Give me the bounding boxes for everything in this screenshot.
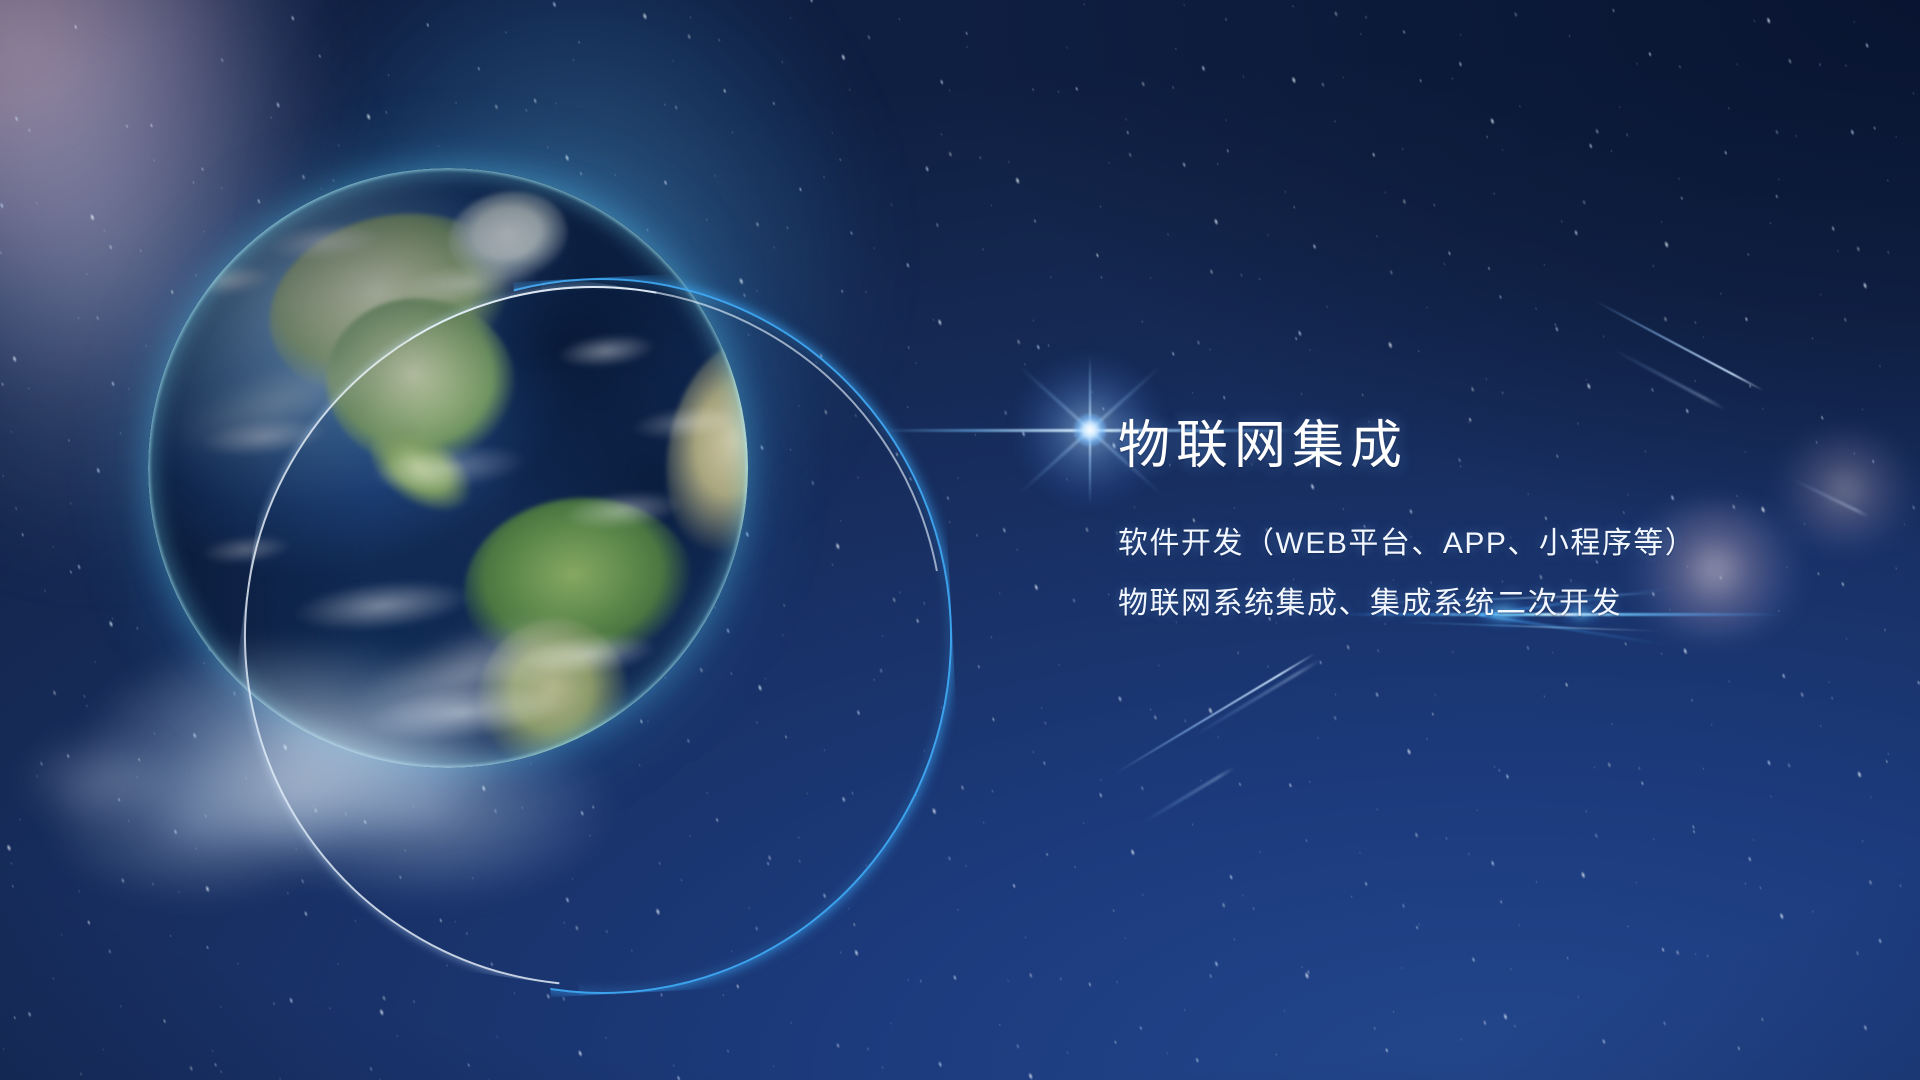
subtitle-line-2: 物联网系统集成、集成系统二次开发 <box>1118 589 1878 619</box>
globe-mist-reflection-3 <box>0 720 200 840</box>
page-title: 物联网集成 <box>1118 418 1878 475</box>
hero-banner: 物联网集成 软件开发（WEB平台、APP、小程序等） 物联网系统集成、集成系统二… <box>0 0 1920 1080</box>
banner-copy: 物联网集成 软件开发（WEB平台、APP、小程序等） 物联网系统集成、集成系统二… <box>1118 418 1878 619</box>
subtitle-line-1: 软件开发（WEB平台、APP、小程序等） <box>1118 529 1878 559</box>
